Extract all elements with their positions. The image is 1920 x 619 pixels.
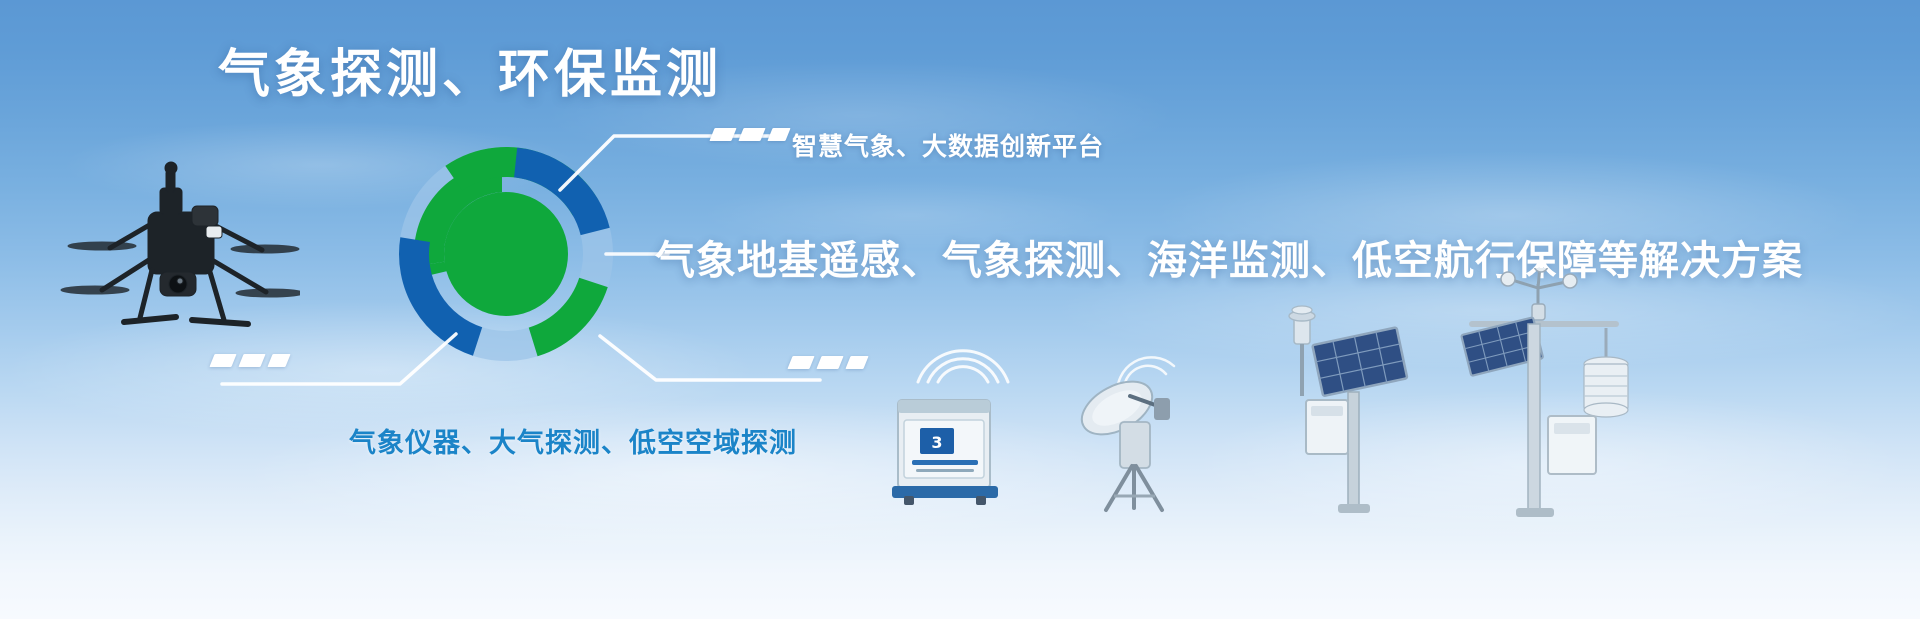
accent-dash (238, 354, 265, 367)
hero-banner: 气象探测、环保监测 智慧气象、大数据创新平台 (0, 0, 1920, 619)
accent-dashes-bottom-right (790, 356, 866, 369)
accent-dash (816, 356, 843, 369)
label-instruments: 气象仪器、大气探测、低空空域探测 (349, 421, 797, 460)
quadcopter-drone-icon (40, 150, 300, 350)
anemometer-weather-mast-icon (1420, 268, 1650, 518)
satellite-dish-tripod-icon (1062, 350, 1212, 515)
label-smart-meteorology: 智慧气象、大数据创新平台 (792, 127, 1104, 163)
banner-headline: 气象探测、环保监测 (218, 47, 722, 104)
accent-dash (267, 354, 290, 367)
dual-color-donut-ring (382, 130, 630, 378)
accent-dashes-bottom-left (212, 354, 288, 367)
laser-ceilometer-cabinet-icon: 3 (890, 390, 1000, 505)
svg-text:3: 3 (931, 433, 942, 452)
accent-dashes-top-right (712, 128, 788, 141)
accent-dash (767, 128, 790, 141)
accent-dash (787, 356, 814, 369)
accent-dash (209, 354, 236, 367)
solar-powered-weather-station-icon (1280, 300, 1440, 515)
signal-waves-icon (908, 320, 1018, 390)
accent-dash (738, 128, 765, 141)
accent-dash (709, 128, 736, 141)
accent-dash (845, 356, 868, 369)
